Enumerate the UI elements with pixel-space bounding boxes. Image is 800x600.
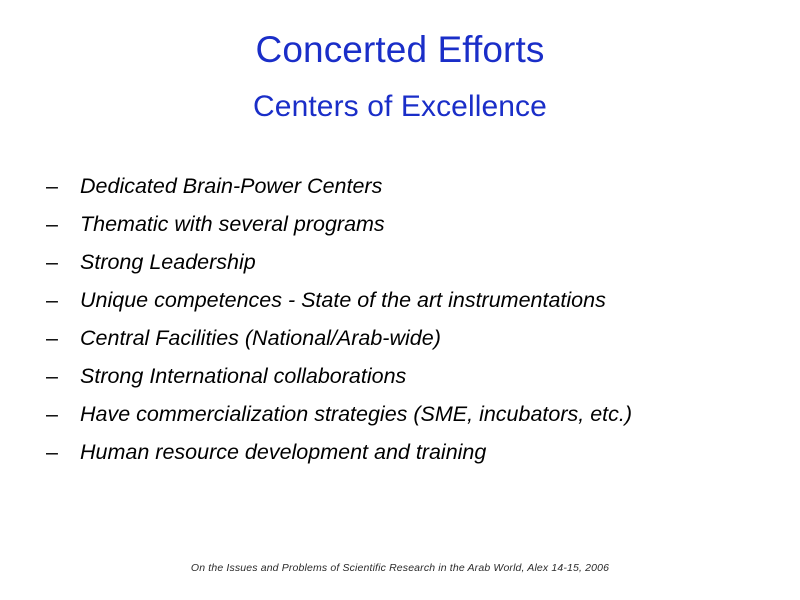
list-item: – Strong International collaborations xyxy=(46,366,780,404)
list-item: – Have commercialization strategies (SME… xyxy=(46,404,780,442)
list-item: – Central Facilities (National/Arab-wide… xyxy=(46,328,780,366)
page-subtitle: Centers of Excellence xyxy=(0,71,800,123)
dash-bullet-icon: – xyxy=(46,366,80,388)
list-item: – Unique competences - State of the art … xyxy=(46,290,780,328)
slide-canvas: Concerted Efforts Centers of Excellence … xyxy=(0,0,800,600)
list-item: – Dedicated Brain-Power Centers xyxy=(46,176,780,214)
list-item: – Thematic with several programs xyxy=(46,214,780,252)
list-item-label: Central Facilities (National/Arab-wide) xyxy=(80,328,780,350)
list-item: – Strong Leadership xyxy=(46,252,780,290)
list-item-label: Thematic with several programs xyxy=(80,214,780,236)
dash-bullet-icon: – xyxy=(46,442,80,464)
dash-bullet-icon: – xyxy=(46,252,80,274)
title-block: Concerted Efforts Centers of Excellence xyxy=(0,0,800,123)
list-item-label: Dedicated Brain-Power Centers xyxy=(80,176,780,198)
list-item-label: Strong International collaborations xyxy=(80,366,780,388)
slide-footer: On the Issues and Problems of Scientific… xyxy=(0,562,800,574)
list-item-label: Have commercialization strategies (SME, … xyxy=(80,404,780,426)
dash-bullet-icon: – xyxy=(46,328,80,350)
list-item-label: Strong Leadership xyxy=(80,252,780,274)
dash-bullet-icon: – xyxy=(46,290,80,312)
bullet-list: – Dedicated Brain-Power Centers – Themat… xyxy=(46,176,780,480)
dash-bullet-icon: – xyxy=(46,404,80,426)
list-item-label: Unique competences - State of the art in… xyxy=(80,290,780,312)
list-item: – Human resource development and trainin… xyxy=(46,442,780,480)
dash-bullet-icon: – xyxy=(46,214,80,236)
page-title: Concerted Efforts xyxy=(0,30,800,71)
dash-bullet-icon: – xyxy=(46,176,80,198)
list-item-label: Human resource development and training xyxy=(80,442,780,464)
